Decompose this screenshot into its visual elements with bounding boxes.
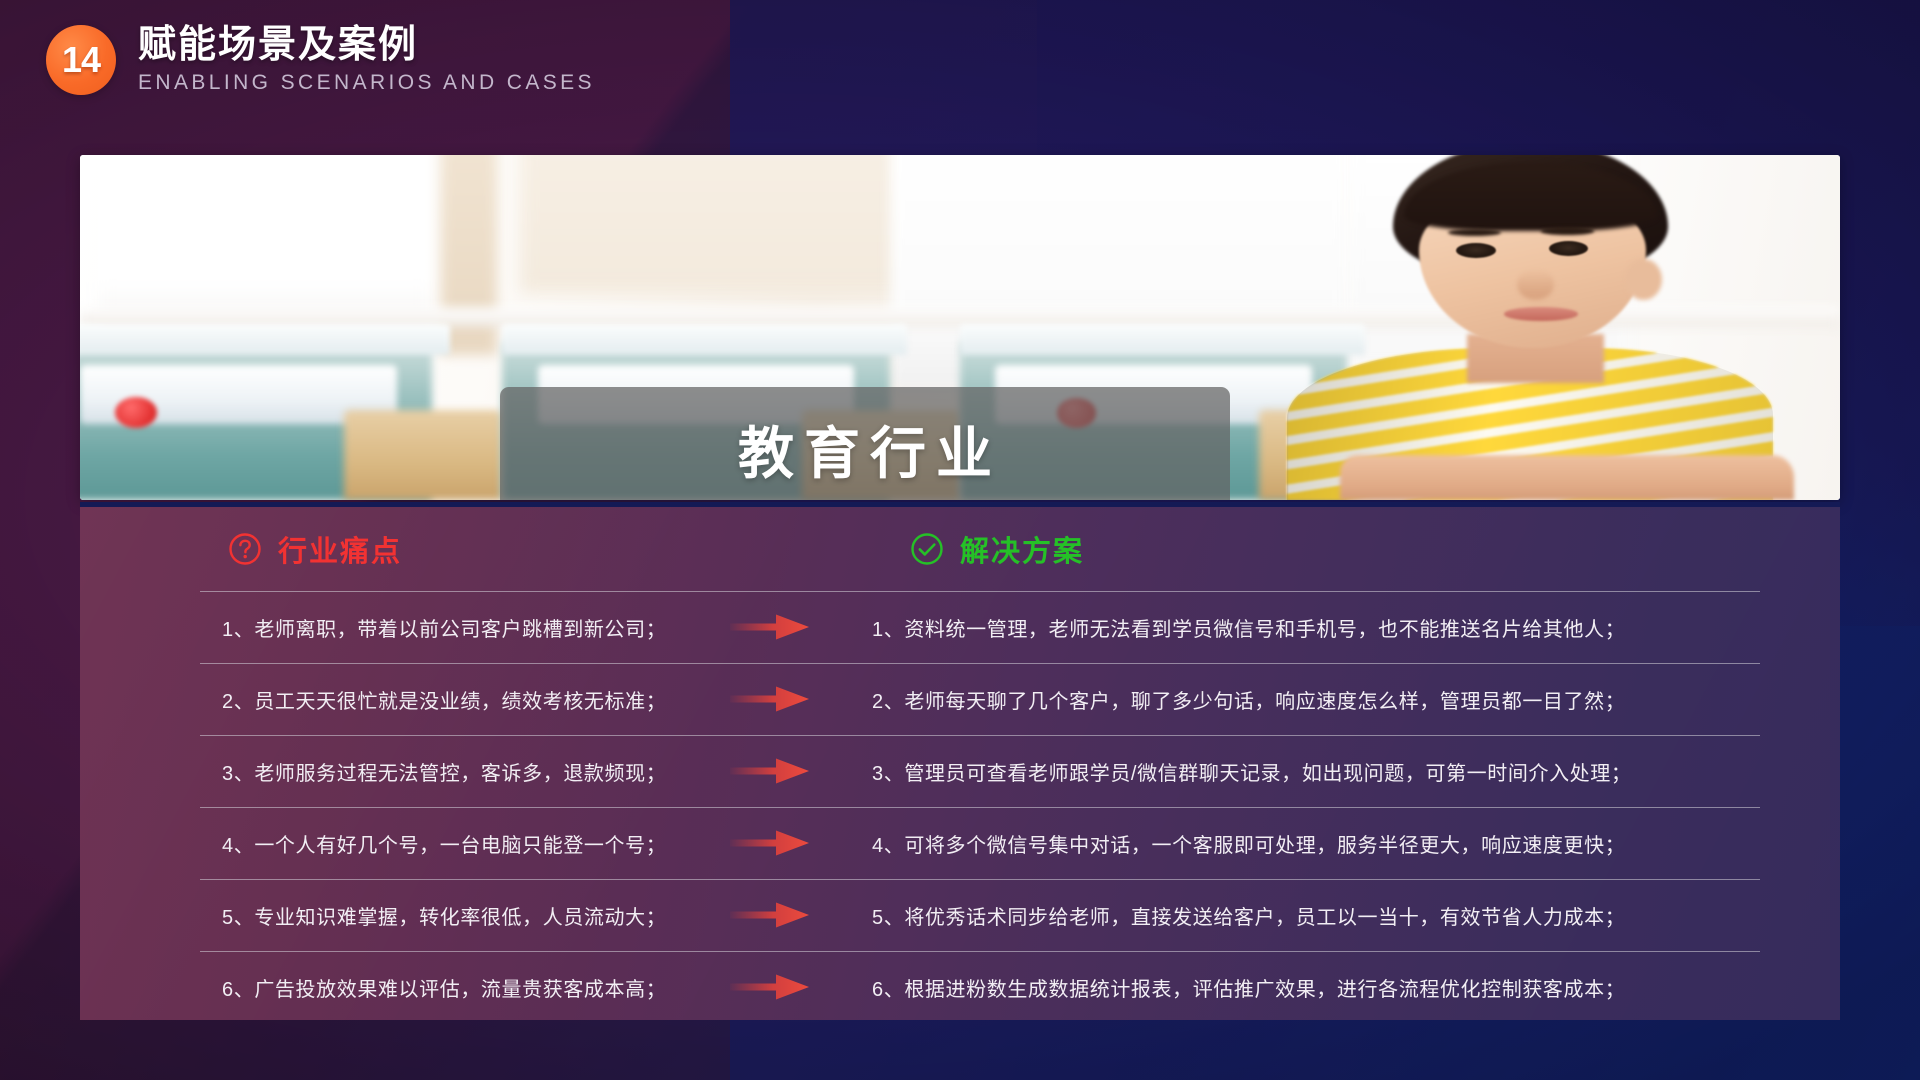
arrow-cell xyxy=(690,758,850,784)
arrow-right-icon xyxy=(730,902,810,928)
arrow-cell xyxy=(690,830,850,856)
photo-chair-1 xyxy=(344,410,502,500)
page-subtitle-english: ENABLING SCENARIOS AND CASES xyxy=(138,69,595,97)
photo-student-brow-right xyxy=(1541,227,1594,234)
solution-text: 2、老师每天聊了几个客户，聊了多少句话，响应速度怎么样，管理员都一目了然； xyxy=(850,685,1840,714)
slide-header: 14 赋能场景及案例 ENABLING SCENARIOS AND CASES xyxy=(46,24,595,97)
arrow-right-icon xyxy=(730,614,810,640)
comparison-panel: 行业痛点 解决方案 1、老师离职，带着以前公司客户跳槽到新公司； xyxy=(80,502,1840,1020)
photo-student-mouth xyxy=(1504,307,1578,321)
arrow-right-icon xyxy=(730,758,810,784)
arrow-right-icon xyxy=(730,686,810,712)
solution-text: 1、资料统一管理，老师无法看到学员微信号和手机号，也不能推送名片给其他人； xyxy=(850,613,1840,642)
arrow-cell xyxy=(690,902,850,928)
photo-student-eye-left xyxy=(1456,243,1496,258)
solution-text: 5、将优秀话术同步给老师，直接发送给客户，员工以一当十，有效节省人力成本； xyxy=(850,901,1840,930)
solution-text: 4、可将多个微信号集中对话，一个客服即可处理，服务半径更大，响应速度更快； xyxy=(850,829,1840,858)
photo-student xyxy=(1256,155,1784,500)
header-text-group: 赋能场景及案例 ENABLING SCENARIOS AND CASES xyxy=(138,24,595,97)
pain-point-text: 4、一个人有好几个号，一台电脑只能登一个号； xyxy=(80,829,690,858)
banner-title: 教育行业 xyxy=(728,422,1002,486)
table-row: 1、老师离职，带着以前公司客户跳槽到新公司； 1、资料统一管理，老师无法看到学员… xyxy=(80,591,1840,663)
banner-title-overlay: 教育行业 （微企典型客户：新东方、好未来、中大网校、哒哒英语、火星时代等） xyxy=(500,387,1230,500)
photo-desk-top-2 xyxy=(502,324,907,355)
section-number-badge: 14 xyxy=(46,25,116,95)
photo-student-ear xyxy=(1625,259,1662,300)
column-headers: 行业痛点 解决方案 xyxy=(80,507,1840,591)
pain-point-text: 3、老师服务过程无法管控，客诉多，退款频现； xyxy=(80,757,690,786)
table-row: 6、广告投放效果难以评估，流量贵获客成本高； 6、根据进粉数生成数据统计报表，评… xyxy=(80,951,1840,1020)
check-circle-icon xyxy=(910,532,944,566)
page-title: 赋能场景及案例 xyxy=(138,24,595,67)
arrow-cell xyxy=(690,686,850,712)
column-header-solutions: 解决方案 xyxy=(810,507,1840,591)
column-header-pain-points: 行业痛点 xyxy=(80,507,810,591)
solutions-label: 解决方案 xyxy=(960,528,1084,570)
photo-student-nose xyxy=(1517,269,1554,300)
question-circle-icon xyxy=(228,532,262,566)
arrow-cell xyxy=(690,614,850,640)
table-row: 5、专业知识难掌握，转化率很低，人员流动大； 5、将优秀话术同步给老师，直接发送… xyxy=(80,879,1840,951)
table-row: 2、员工天天很忙就是没业绩，绩效考核无标准； 2、老师每天聊了几个客户，聊了多少… xyxy=(80,663,1840,735)
table-row: 4、一个人有好几个号，一台电脑只能登一个号； 4、可将多个微信号集中对话，一个客… xyxy=(80,807,1840,879)
arrow-right-icon xyxy=(730,974,810,1000)
hero-banner: 教育行业 （微企典型客户：新东方、好未来、中大网校、哒哒英语、火星时代等） xyxy=(80,155,1840,500)
pain-point-text: 2、员工天天很忙就是没业绩，绩效考核无标准； xyxy=(80,685,690,714)
arrow-right-icon xyxy=(730,830,810,856)
arrow-cell xyxy=(690,974,850,1000)
pain-point-text: 5、专业知识难掌握，转化率很低，人员流动大； xyxy=(80,901,690,930)
solution-text: 3、管理员可查看老师跟学员/微信群聊天记录，如出现问题，可第一时间介入处理； xyxy=(850,757,1840,786)
solution-text: 6、根据进粉数生成数据统计报表，评估推广效果，进行各流程优化控制获客成本； xyxy=(850,973,1840,1002)
photo-red-object-1 xyxy=(115,397,157,428)
photo-student-arm xyxy=(1340,455,1794,500)
photo-desk-top-1 xyxy=(80,324,450,355)
pain-point-text: 1、老师离职，带着以前公司客户跳槽到新公司； xyxy=(80,613,690,642)
pain-point-text: 6、广告投放效果难以评估，流量贵获客成本高； xyxy=(80,973,690,1002)
table-row: 3、老师服务过程无法管控，客诉多，退款频现； 3、管理员可查看老师跟学员/微信群… xyxy=(80,735,1840,807)
pain-points-label: 行业痛点 xyxy=(278,528,402,570)
comparison-rows: 1、老师离职，带着以前公司客户跳槽到新公司； 1、资料统一管理，老师无法看到学员… xyxy=(80,591,1840,1020)
